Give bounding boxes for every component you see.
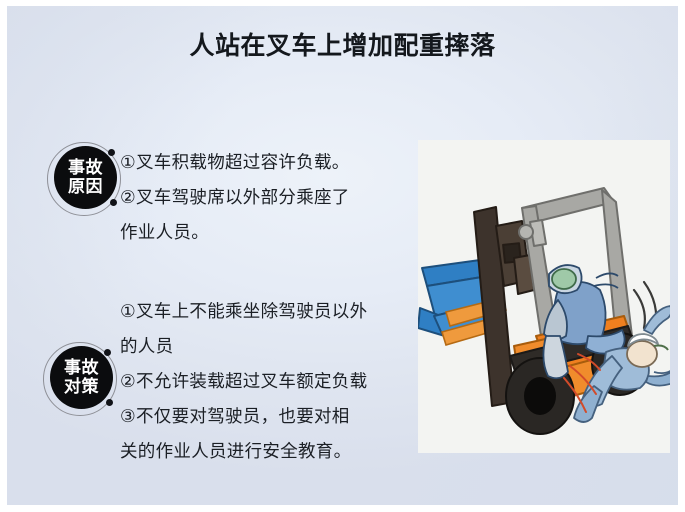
badge-dot-bottom-icon	[106, 399, 113, 406]
countermeasure-line-4: ③不仅要对驾驶员，也要对相	[120, 399, 367, 434]
countermeasure-line-2: 的人员	[120, 329, 367, 364]
badge-label-line1: 事故	[64, 359, 99, 377]
countermeasure-line-5: 关的作业人员进行安全教育。	[120, 434, 367, 469]
cause-line-2: ②叉车驾驶席以外部分乘座了	[120, 180, 350, 215]
badge-dot-top-icon	[104, 349, 111, 356]
slide-canvas: 人站在叉车上增加配重摔落 事故 原因 ①叉车积载物超过容许负载。 ②叉车驾驶席以…	[7, 6, 678, 505]
forklift-tipping-illustration-icon	[418, 140, 670, 453]
countermeasure-line-1: ①叉车上不能乘坐除驾驶员以外	[120, 294, 367, 329]
badge-disc: 事故 对策	[50, 346, 113, 409]
accident-illustration	[418, 140, 670, 453]
page-title: 人站在叉车上增加配重摔落	[7, 26, 678, 62]
badge-label-line1: 事故	[68, 159, 103, 177]
badge-label-line2: 对策	[64, 378, 99, 396]
badge-dot-top-icon	[108, 149, 115, 156]
countermeasure-line-3: ②不允许装载超过叉车额定负载	[120, 364, 367, 399]
slide-root: 人站在叉车上增加配重摔落 事故 原因 ①叉车积载物超过容许负载。 ②叉车驾驶席以…	[0, 0, 685, 512]
cause-line-1: ①叉车积载物超过容许负载。	[120, 145, 350, 180]
accident-countermeasure-text: ①叉车上不能乘坐除驾驶员以外 的人员 ②不允许装载超过叉车额定负载 ③不仅要对驾…	[120, 294, 367, 469]
badge-accident-cause: 事故 原因	[47, 142, 125, 220]
cause-line-3: 作业人员。	[120, 215, 350, 250]
accident-cause-text: ①叉车积载物超过容许负载。 ②叉车驾驶席以外部分乘座了 作业人员。	[120, 145, 350, 250]
badge-label-line2: 原因	[68, 178, 103, 196]
badge-disc: 事故 原因	[54, 146, 117, 209]
badge-dot-bottom-icon	[110, 199, 117, 206]
badge-accident-countermeasure: 事故 对策	[43, 342, 121, 420]
